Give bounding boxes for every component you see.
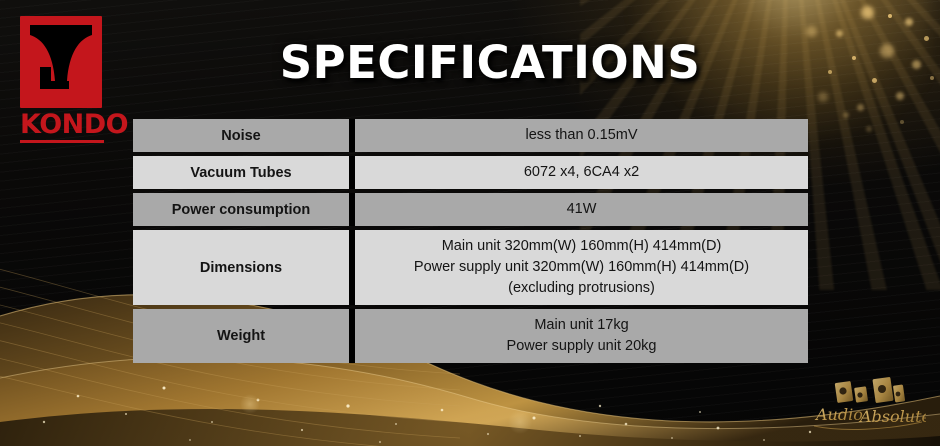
spec-value: Main unit 320mm(W) 160mm(H) 414mm(D) Pow…	[355, 230, 808, 305]
spec-value-line: 6072 x4, 6CA4 x2	[363, 162, 800, 183]
spec-label: Power consumption	[133, 193, 355, 226]
specifications-slide: KONDO SPECIFICATIONS Noise less than 0.1…	[0, 0, 940, 446]
table-row: Weight Main unit 17kg Power supply unit …	[133, 309, 808, 363]
spec-value: 41W	[355, 193, 808, 226]
table-row: Power consumption 41W	[133, 193, 808, 226]
spec-value-line: Power supply unit 20kg	[363, 336, 800, 357]
spec-value-line: (excluding protrusions)	[363, 278, 800, 299]
specifications-table-body: Noise less than 0.15mV Vacuum Tubes 6072…	[133, 119, 808, 363]
spec-value-line: Main unit 320mm(W) 160mm(H) 414mm(D)	[363, 236, 800, 257]
specifications-table: Noise less than 0.15mV Vacuum Tubes 6072…	[133, 115, 808, 367]
spec-value-line: 41W	[363, 199, 800, 220]
spec-value: 6072 x4, 6CA4 x2	[355, 156, 808, 189]
spec-label: Dimensions	[133, 230, 355, 305]
spec-value-line: less than 0.15mV	[363, 125, 800, 146]
spec-value: less than 0.15mV	[355, 119, 808, 152]
spec-label: Weight	[133, 309, 355, 363]
page-title: SPECIFICATIONS	[0, 40, 940, 85]
table-row: Dimensions Main unit 320mm(W) 160mm(H) 4…	[133, 230, 808, 305]
spec-label: Vacuum Tubes	[133, 156, 355, 189]
audio-absolute-watermark: Audio Absolute	[808, 376, 926, 438]
kondo-underline	[20, 140, 104, 143]
kondo-wordmark: KONDO	[20, 111, 108, 138]
spec-value-line: Main unit 17kg	[363, 315, 800, 336]
watermark-word-audio: Audio	[814, 405, 863, 424]
spec-value: Main unit 17kg Power supply unit 20kg	[355, 309, 808, 363]
table-row: Noise less than 0.15mV	[133, 119, 808, 152]
spec-value-line: Power supply unit 320mm(W) 160mm(H) 414m…	[363, 257, 800, 278]
table-row: Vacuum Tubes 6072 x4, 6CA4 x2	[133, 156, 808, 189]
spec-label: Noise	[133, 119, 355, 152]
